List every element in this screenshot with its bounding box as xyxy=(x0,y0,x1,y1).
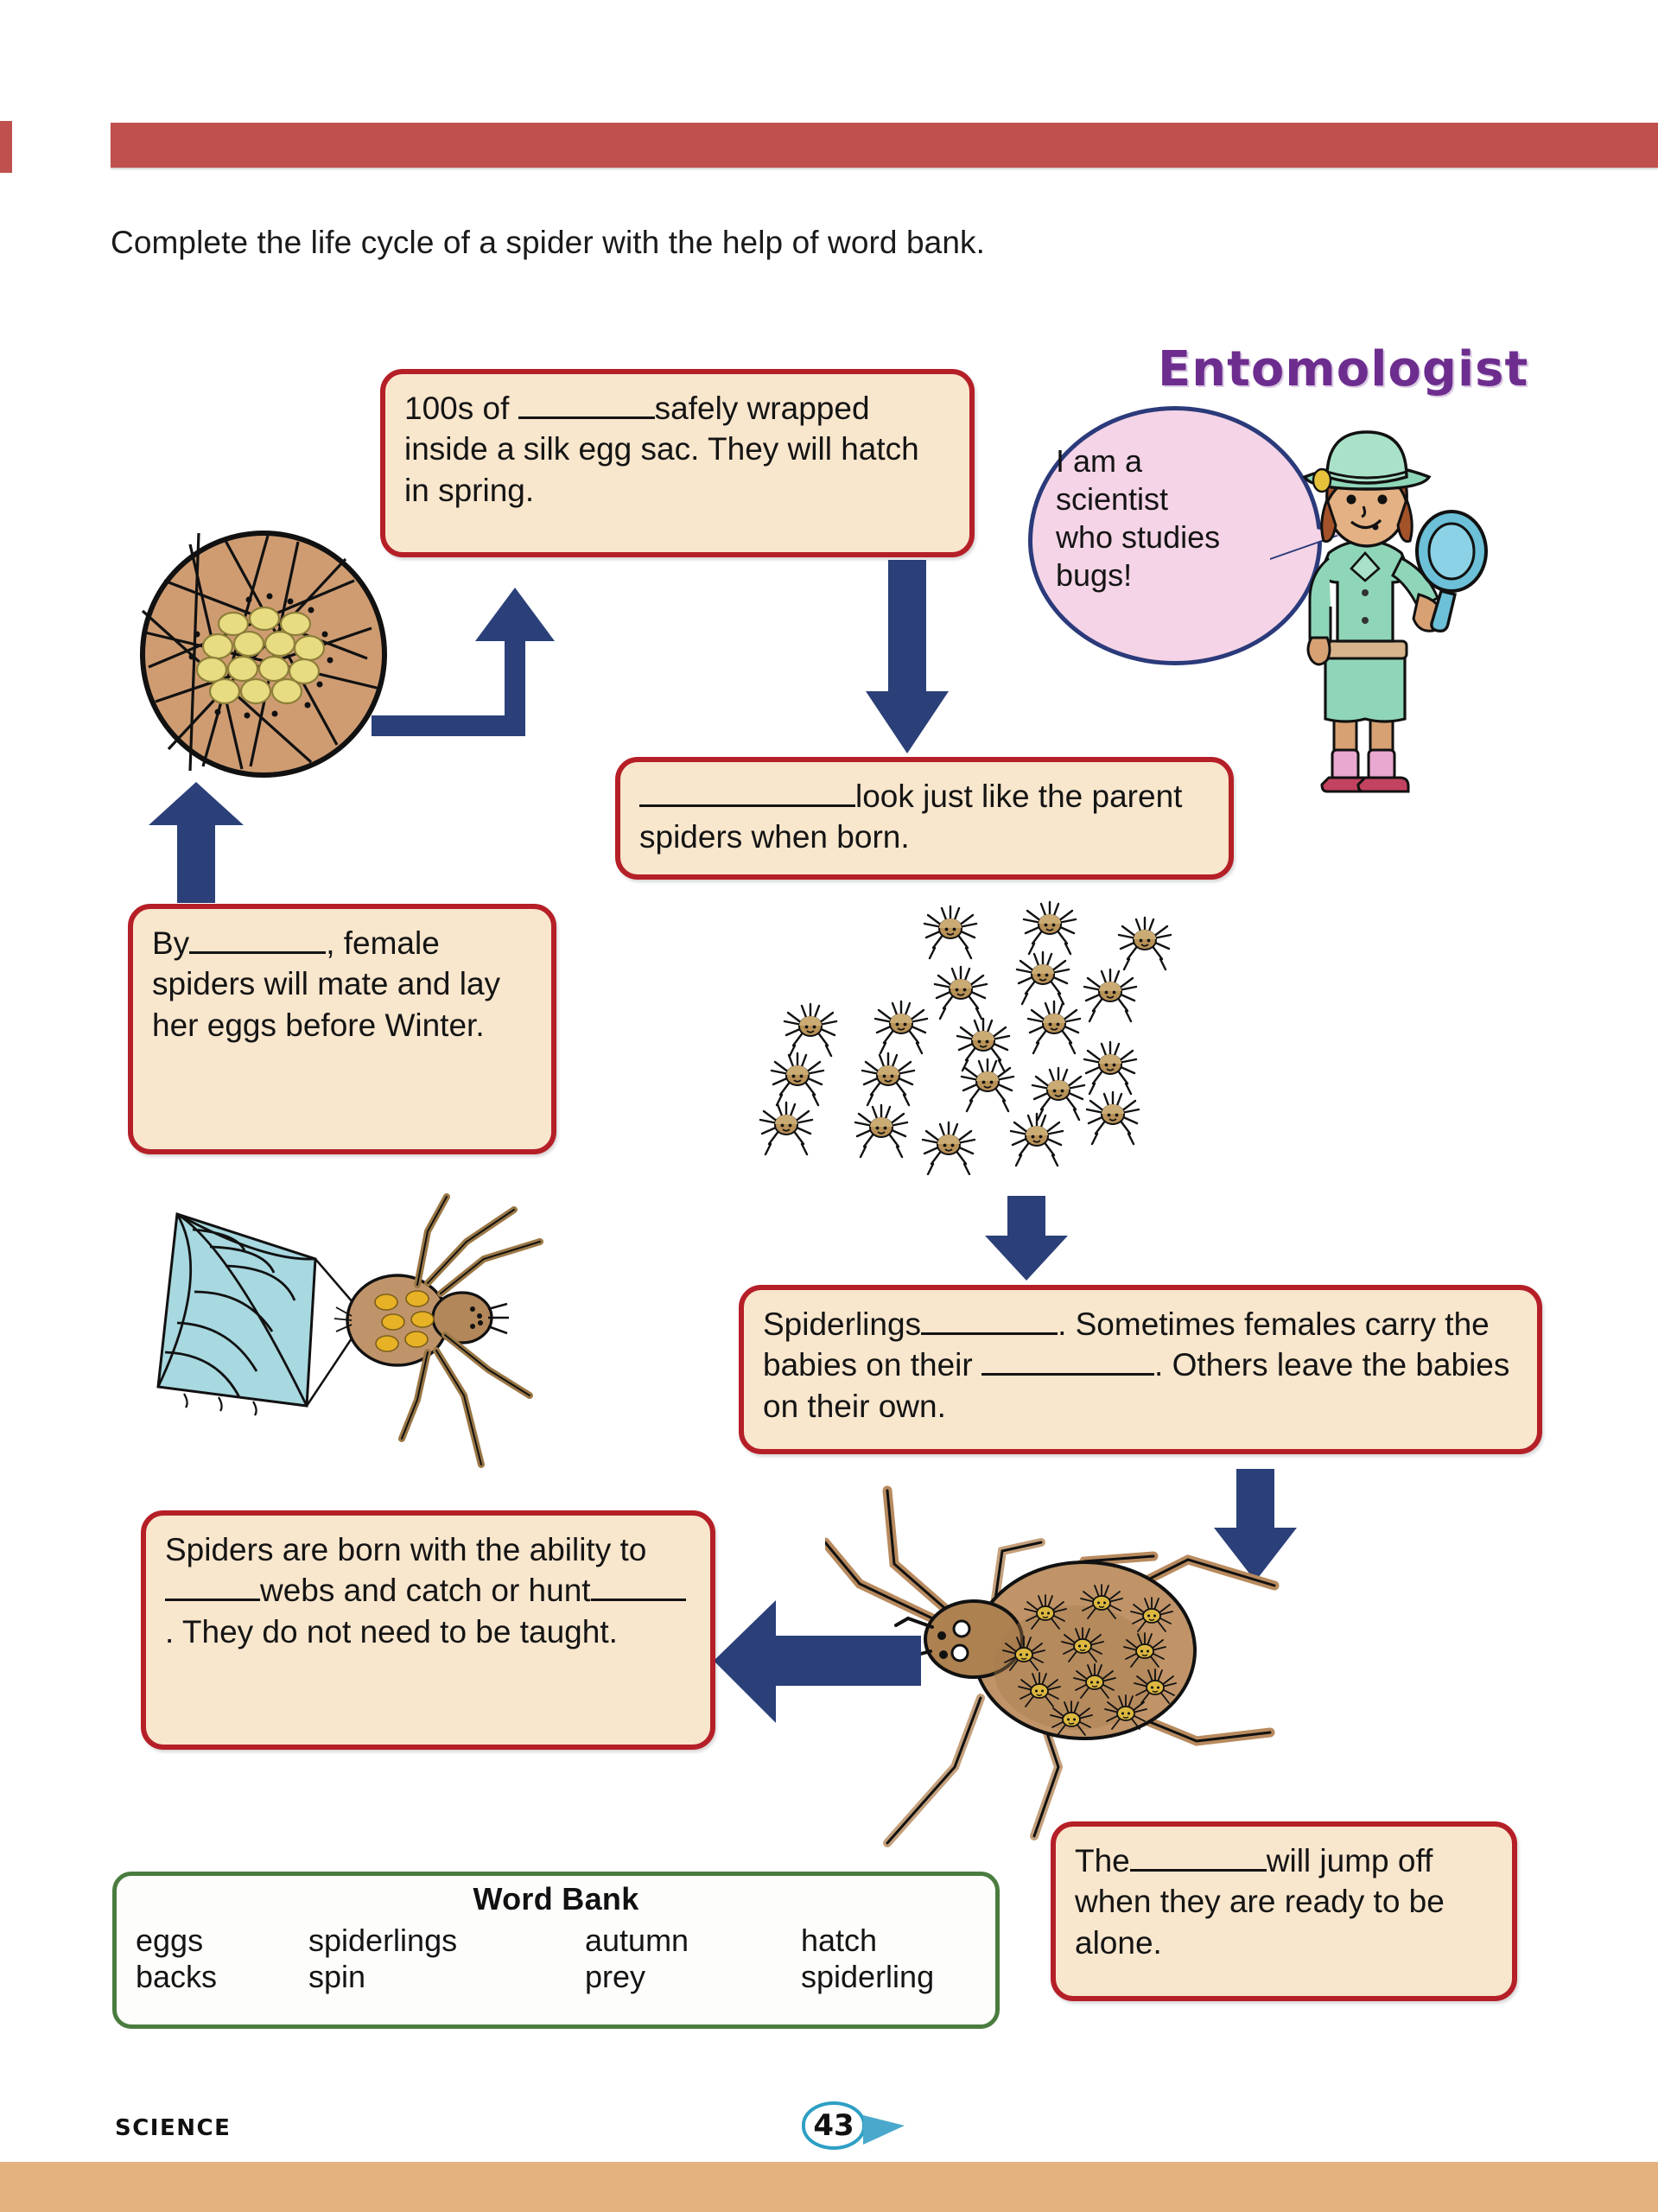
word-bank-word[interactable]: hatch xyxy=(801,1923,877,1959)
word-bank-word[interactable]: prey xyxy=(585,1959,801,1995)
scientist-image xyxy=(1280,423,1514,795)
arrow-bywinter-to-eggsac xyxy=(149,782,244,903)
callout-born-t2: . They do not need to be taught. xyxy=(165,1614,618,1649)
callout-jump-t1: will jump off when they are ready to be … xyxy=(1075,1843,1445,1961)
callout-eggsac-t0: 100s of xyxy=(404,391,518,426)
callout-bywinter-t1: , female spiders will mate and lay her e… xyxy=(152,925,500,1043)
word-bank-title: Word Bank xyxy=(117,1881,995,1917)
subject-label: SCIENCE xyxy=(115,2115,231,2141)
blank-field-2[interactable] xyxy=(639,804,855,807)
callout-jump-t0: The xyxy=(1075,1843,1130,1878)
callout-spiderlings: Spiderlings. Sometimes females carry the… xyxy=(739,1285,1542,1454)
word-bank-word[interactable]: spiderlings xyxy=(308,1923,585,1959)
blank-field-7[interactable] xyxy=(591,1599,686,1601)
speech-line-2: who studies xyxy=(1056,518,1306,556)
worksheet-page: Complete the life cycle of a spider with… xyxy=(0,0,1658,2212)
header-left-tab xyxy=(0,121,12,173)
callout-spiderlings-t0: Spiderlings xyxy=(763,1306,921,1342)
spiderlings-swarm-image xyxy=(743,899,1192,1175)
spider-on-web-image xyxy=(143,1179,557,1482)
egg-sac-image xyxy=(138,529,389,779)
callout-born-t0: Spiders are born with the ability to xyxy=(165,1532,646,1567)
word-bank-word[interactable]: autumn xyxy=(585,1923,801,1959)
callout-bywinter-t0: By xyxy=(152,925,189,961)
entomologist-title: Entomologist xyxy=(1158,341,1528,397)
callout-look-t0: look just like the parent spiders when b… xyxy=(639,779,1182,855)
arrow-eggbox-to-look xyxy=(866,560,949,759)
arrow-mother-to-born xyxy=(714,1597,921,1726)
page-badge-tail-icon xyxy=(863,2115,905,2145)
speech-line-3: bugs! xyxy=(1056,556,1306,594)
word-bank-word[interactable]: spin xyxy=(308,1959,585,1995)
blank-field-6[interactable] xyxy=(165,1599,260,1601)
callout-look: look just like the parent spiders when b… xyxy=(615,757,1234,880)
callout-born-t1: webs and catch or hunt xyxy=(260,1573,591,1608)
callout-eggsac: 100s of safely wrapped inside a silk egg… xyxy=(380,369,975,557)
word-bank-word[interactable]: backs xyxy=(136,1959,308,1995)
speech-line-1: scientist xyxy=(1056,480,1306,518)
blank-field-1[interactable] xyxy=(518,416,655,419)
word-bank-word[interactable]: eggs xyxy=(136,1923,308,1959)
callout-jump: Thewill jump off when they are ready to … xyxy=(1051,1821,1517,2001)
word-bank-word[interactable]: spiderling xyxy=(801,1959,934,1995)
blank-field-8[interactable] xyxy=(1130,1869,1267,1872)
instruction-text: Complete the life cycle of a spider with… xyxy=(111,225,985,261)
blank-field-4[interactable] xyxy=(921,1332,1058,1335)
footer-bar xyxy=(0,2162,1658,2212)
word-bank: Word Bank eggs spiderlings autumn hatch … xyxy=(112,1872,1000,2029)
callout-bywinter: By, female spiders will mate and lay her… xyxy=(128,904,556,1154)
arrow-eggsac-to-eggbox xyxy=(372,553,588,760)
word-bank-row: eggs spiderlings autumn hatch xyxy=(117,1923,995,1959)
speech-line-0: I am a xyxy=(1056,442,1306,480)
header-bar xyxy=(111,123,1658,168)
blank-field-5[interactable] xyxy=(981,1373,1154,1376)
speech-bubble-text: I am a scientist who studies bugs! xyxy=(1056,442,1306,594)
word-bank-row: backs spin prey spiderling xyxy=(117,1959,995,1995)
blank-field-3[interactable] xyxy=(189,951,326,954)
page-number-badge: 43 xyxy=(802,2101,866,2150)
arrow-look-to-spiderlings xyxy=(985,1196,1068,1282)
callout-born: Spiders are born with the ability towebs… xyxy=(141,1510,715,1750)
